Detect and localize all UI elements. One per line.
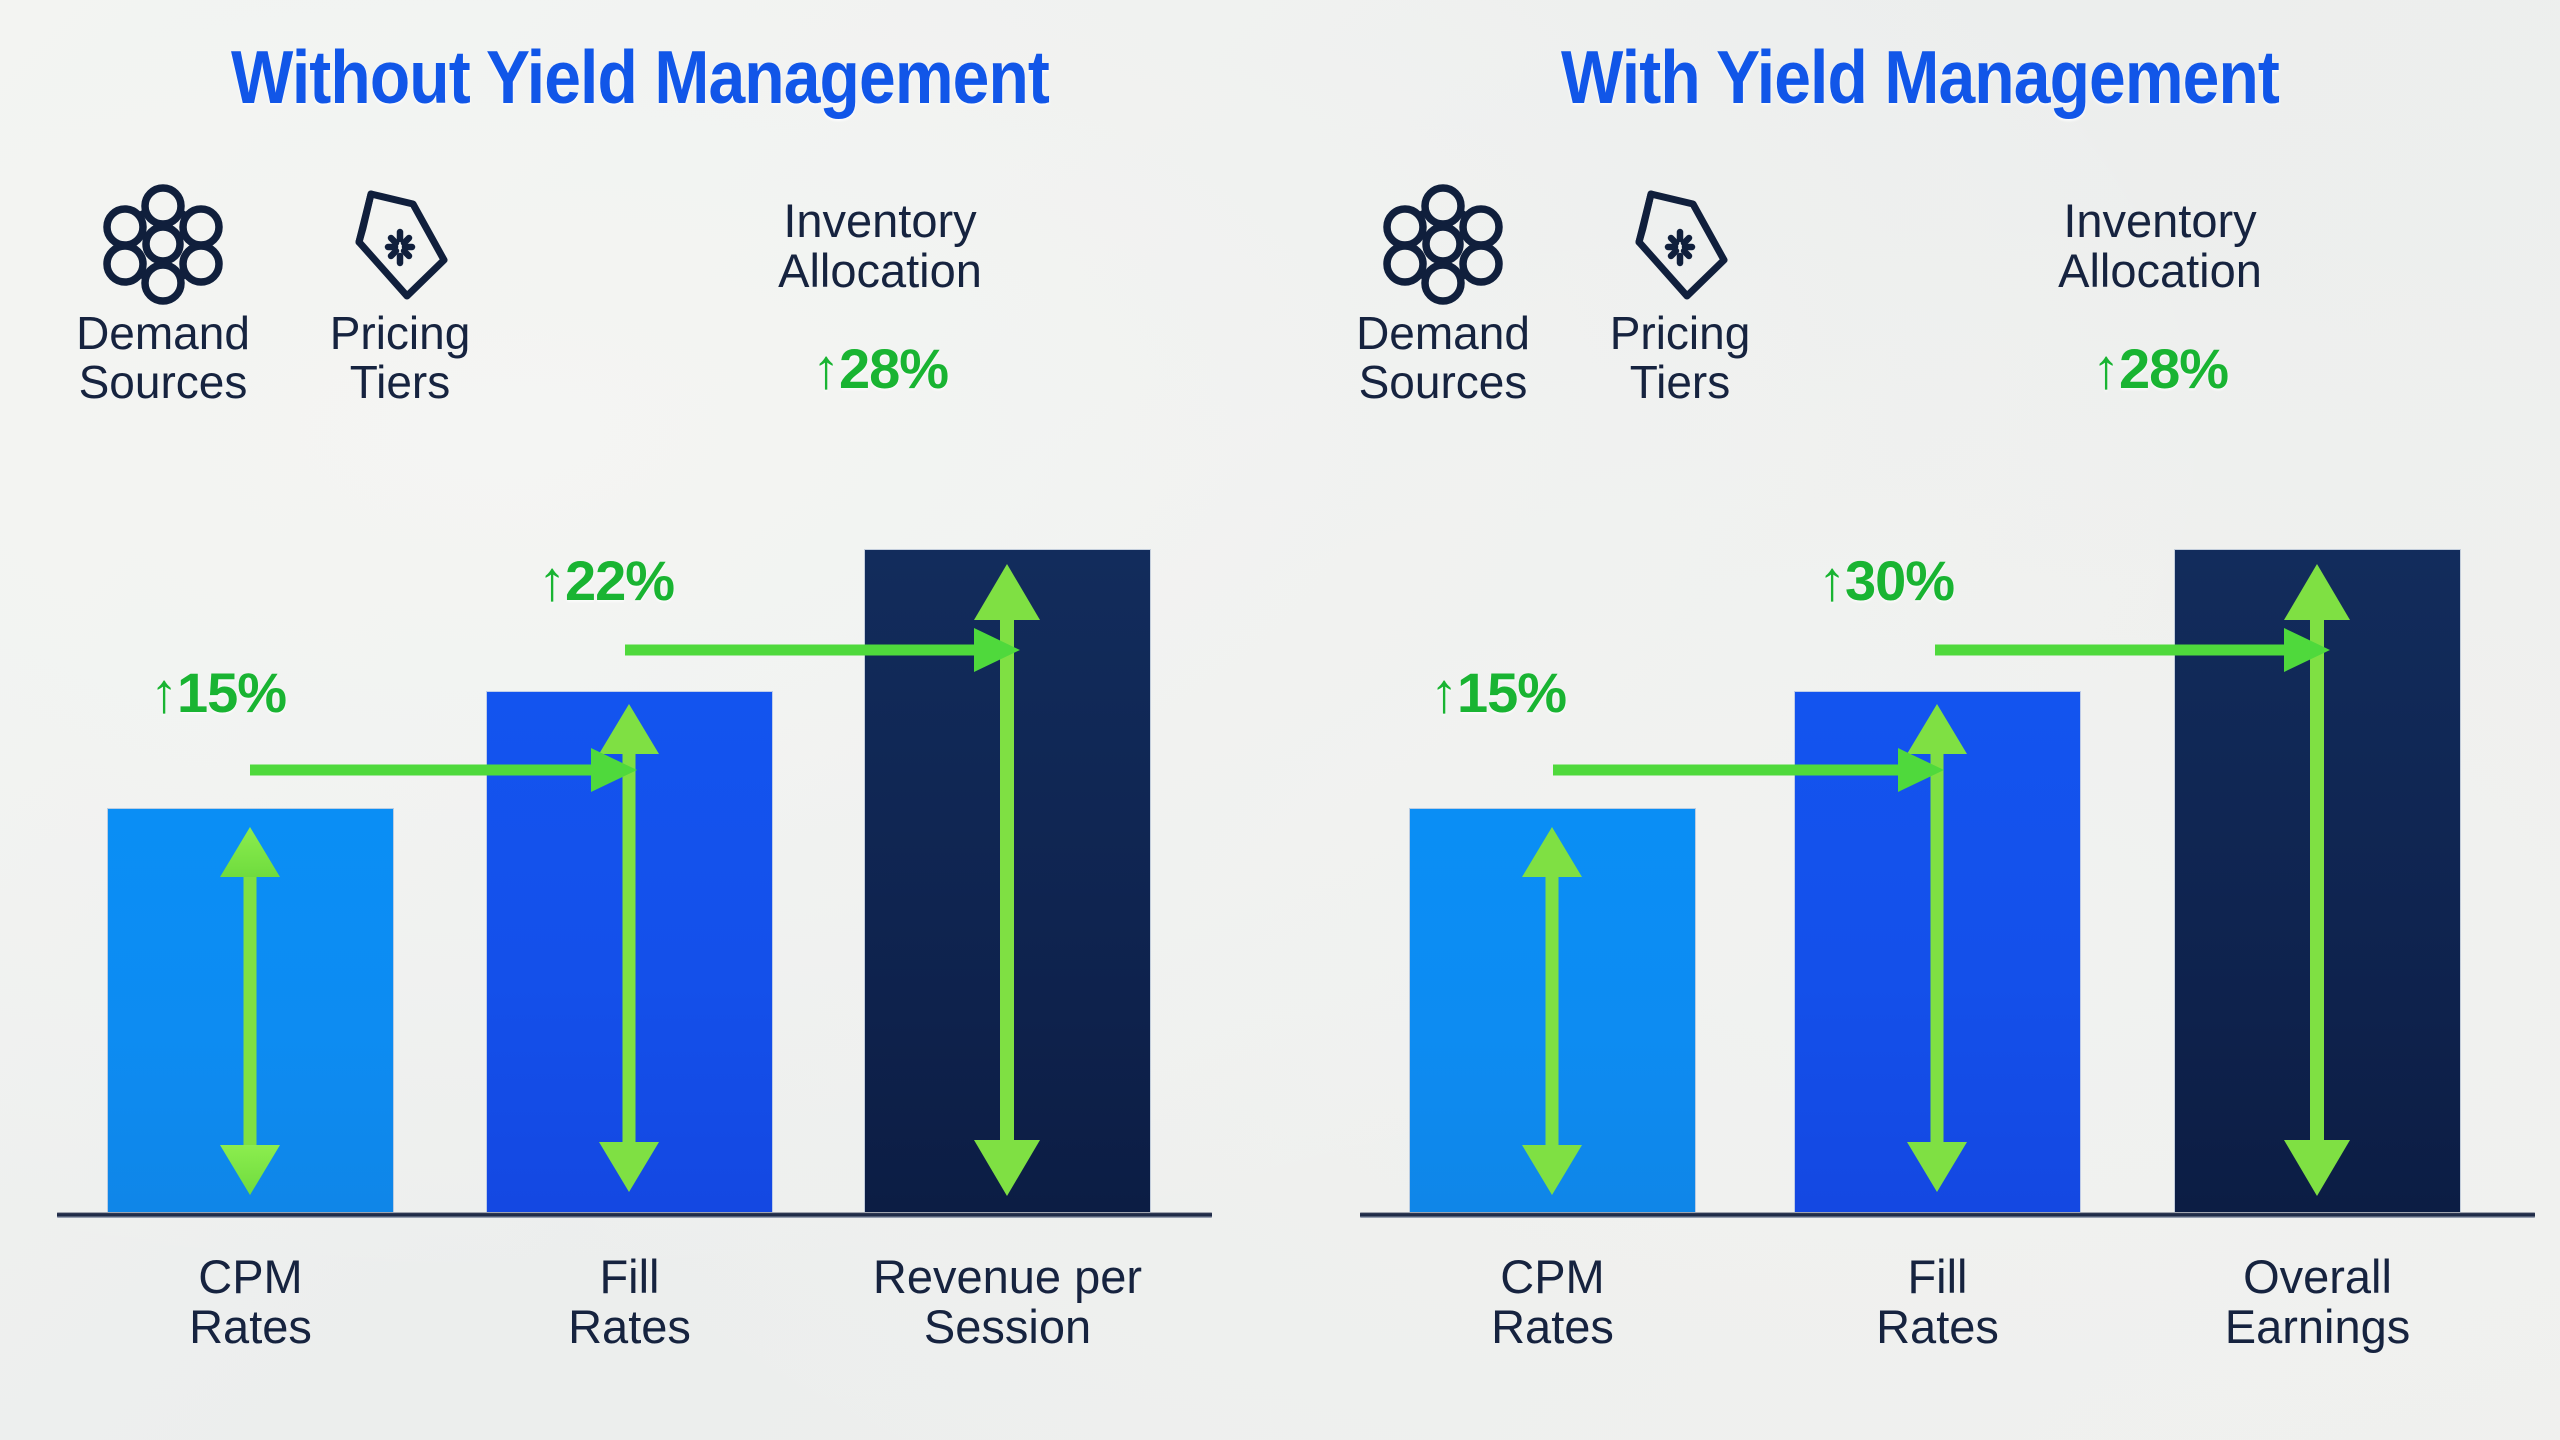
delta-badge-inventory-right: ↑28% <box>1980 336 2340 401</box>
price-tag-icon <box>255 185 545 303</box>
x-axis-label-cpm-right: CPM Rates <box>1410 1252 1695 1353</box>
double-arrow-cpm-right <box>1410 809 1695 1212</box>
x-axis-label-overall-earnings-right: Overall Earnings <box>2135 1252 2500 1353</box>
head-group-pricing-tiers-left: Pricing Tiers <box>255 185 545 407</box>
panel-title-left: Without Yield Management <box>77 34 1203 120</box>
x-axis-line-right <box>1360 1212 2535 1218</box>
x-axis-label-fill-left: Fill Rates <box>487 1252 772 1353</box>
head-label-inventory-allocation-right: Inventory Allocation <box>1980 196 2340 296</box>
head-group-inventory-allocation-right: Inventory Allocation ↑28% <box>1980 190 2340 401</box>
head-group-pricing-tiers-right: Pricing Tiers <box>1535 185 1825 407</box>
head-label-inventory-allocation-left: Inventory Allocation <box>700 196 1060 296</box>
delta-badge-fill-to-revenue-left: ↑22% <box>538 548 674 613</box>
delta-badge-fill-to-earnings-right: ↑30% <box>1818 548 1954 613</box>
connector-arrow-fill-to-revenue-left <box>620 620 1032 680</box>
connector-arrow-cpm-to-fill-right <box>1548 740 1953 800</box>
price-tag-icon <box>1535 185 1825 303</box>
head-group-inventory-allocation-left: Inventory Allocation ↑28% <box>700 190 1060 401</box>
x-axis-line-left <box>57 1212 1212 1218</box>
x-axis-label-fill-right: Fill Rates <box>1795 1252 2080 1353</box>
panel-with-yield-management: With Yield Management Demand Sources <box>1280 0 2560 1440</box>
double-arrow-cpm-left <box>108 809 393 1212</box>
connector-arrow-cpm-to-fill-left <box>245 740 645 800</box>
panel-title-right: With Yield Management <box>1357 34 2483 120</box>
panel-without-yield-management: Without Yield Management Demand Sources <box>0 0 1280 1440</box>
delta-badge-cpm-to-fill-left: ↑15% <box>150 660 286 725</box>
head-label-pricing-tiers-right: Pricing Tiers <box>1535 309 1825 407</box>
x-axis-label-revenue-left: Revenue per Session <box>805 1252 1210 1353</box>
delta-badge-inventory-left: ↑28% <box>700 336 1060 401</box>
connector-arrow-fill-to-earnings-right <box>1930 620 2342 680</box>
delta-badge-cpm-to-fill-right: ↑15% <box>1430 660 1566 725</box>
head-label-pricing-tiers-left: Pricing Tiers <box>255 309 545 407</box>
x-axis-label-cpm-left: CPM Rates <box>108 1252 393 1353</box>
